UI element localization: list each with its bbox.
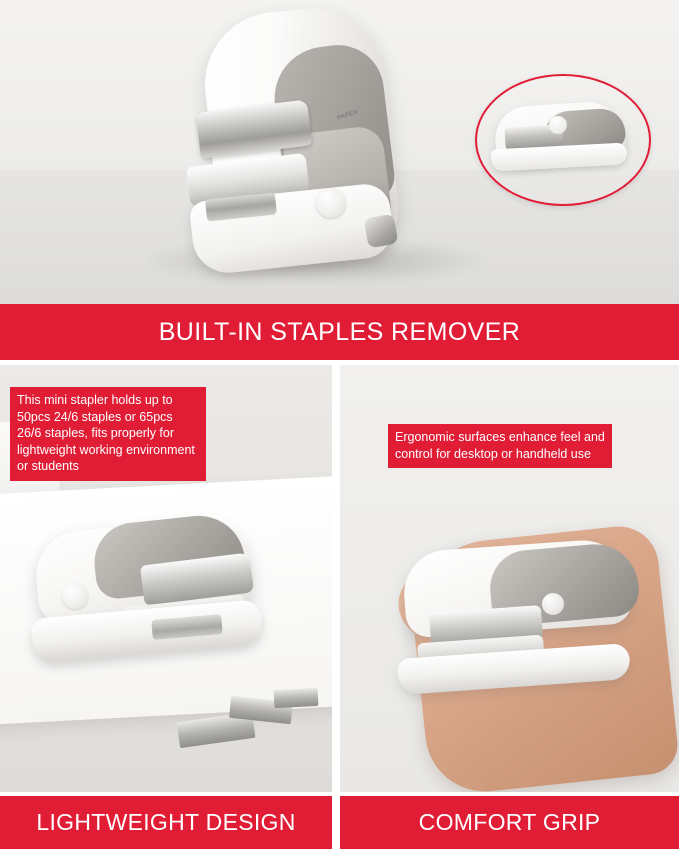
callout-ergonomic-text: Ergonomic surfaces enhance feel and cont… <box>388 424 612 468</box>
stapler-left-image <box>26 515 276 695</box>
stapler-side-button <box>316 188 346 218</box>
stapler-product-image: PAPER <box>170 10 470 285</box>
staple-strip <box>274 688 319 708</box>
callout-capacity-text: This mini stapler holds up to 50pcs 24/6… <box>10 387 206 481</box>
gutter-vertical <box>332 360 340 849</box>
banner-comfort-grip: COMFORT GRIP <box>340 796 679 849</box>
hero-photo-panel: PAPER <box>0 0 679 304</box>
zoom-inset-staple-remover <box>475 74 651 206</box>
lightweight-photo-panel: This mini stapler holds up to 50pcs 24/6… <box>0 365 332 792</box>
inset-side-button <box>549 116 567 134</box>
banner-built-in-staples-remover: BUILT-IN STAPLES REMOVER <box>0 304 679 360</box>
stapler-left-side-button <box>62 583 88 609</box>
stapler-right-side-button <box>542 593 564 615</box>
banner-left-label: LIGHTWEIGHT DESIGN <box>36 809 295 836</box>
loose-staples-group <box>178 689 318 763</box>
banner-right-label: COMFORT GRIP <box>419 809 601 836</box>
stapler-hinge <box>364 214 399 249</box>
product-infographic: PAPER BUILT-IN STAPLES REMOVER <box>0 0 679 849</box>
banner-main-label: BUILT-IN STAPLES REMOVER <box>159 318 521 347</box>
stapler-right-image <box>394 541 644 701</box>
banner-lightweight-design: LIGHTWEIGHT DESIGN <box>0 796 332 849</box>
comfort-grip-photo-panel: Ergonomic surfaces enhance feel and cont… <box>340 365 679 792</box>
